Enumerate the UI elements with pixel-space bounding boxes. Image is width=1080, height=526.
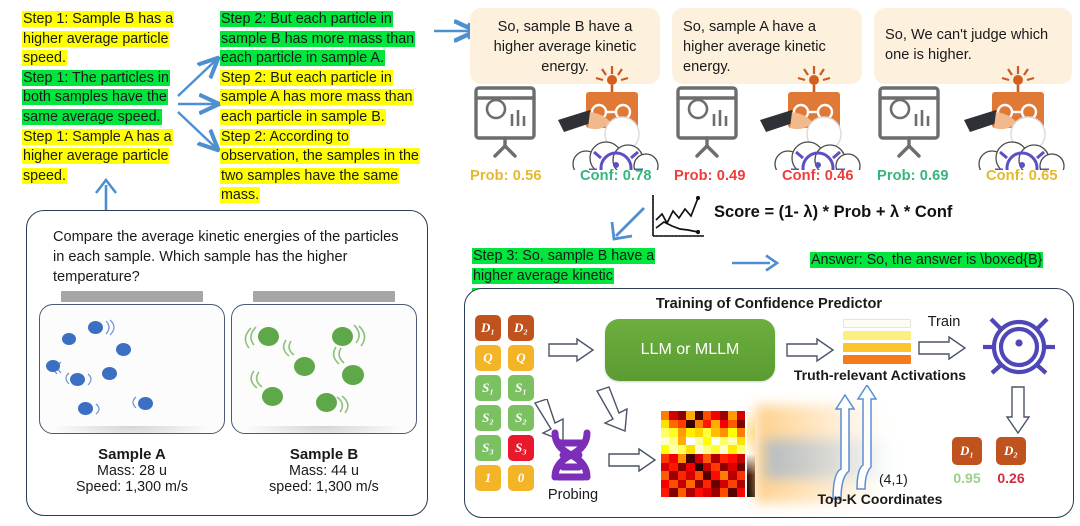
heatmap-cell bbox=[720, 411, 728, 420]
heatmap-cell bbox=[711, 411, 719, 420]
score-formula: Score = (1- λ) * Prob + λ * Conf bbox=[714, 203, 952, 222]
tile-s2-2: S₂ bbox=[508, 405, 534, 431]
heatmap-cell bbox=[686, 428, 694, 437]
heatmap-cell bbox=[711, 463, 719, 472]
step2-item-1: Step 2: But each particle in sample A ha… bbox=[220, 69, 420, 128]
heatmap-cell bbox=[737, 420, 745, 429]
presentation-board-icon-1 bbox=[674, 84, 740, 162]
heatmap-cell bbox=[678, 445, 686, 454]
motion-lines-b bbox=[232, 305, 416, 433]
arrow-question-to-step1 bbox=[88, 175, 124, 215]
heatmap-cell bbox=[703, 420, 711, 429]
llm-box: LLM or MLLM bbox=[605, 319, 775, 381]
tile-s3-2: S₃ bbox=[508, 435, 534, 461]
heatmap-cell bbox=[669, 411, 677, 420]
heatmap-cell bbox=[686, 411, 694, 420]
heatmap-cell bbox=[737, 480, 745, 489]
step2-text-0: Step 2: But each particle in sample B ha… bbox=[220, 11, 415, 66]
heatmap-cell bbox=[695, 428, 703, 437]
heatmap-cell bbox=[728, 420, 736, 429]
heatmap-cell bbox=[711, 428, 719, 437]
tile-d2: D₂ bbox=[508, 315, 534, 341]
heatmap-cell bbox=[678, 428, 686, 437]
heatmap-cell bbox=[695, 411, 703, 420]
heatmap-cell bbox=[661, 471, 669, 480]
heatmap-cell bbox=[728, 428, 736, 437]
heatmap-cell bbox=[737, 471, 745, 480]
heatmap-cell bbox=[661, 454, 669, 463]
sample-b-group: Sample B Mass: 44 u speed: 1,300 m/s bbox=[231, 291, 417, 495]
robot-presenter-icon-0 bbox=[550, 60, 662, 170]
heatmap-cell bbox=[711, 488, 719, 497]
heatmap-cell bbox=[737, 437, 745, 446]
heatmap-cell bbox=[703, 480, 711, 489]
heatmap-cell bbox=[669, 471, 677, 480]
heatmap-cell bbox=[695, 488, 703, 497]
heatmap-cell bbox=[737, 488, 745, 497]
output-d1: D₁ 0.95 bbox=[952, 437, 982, 486]
line-chart-icon bbox=[646, 192, 708, 242]
topk-coordinate: (4,1) bbox=[879, 471, 908, 487]
sample-b-lid bbox=[253, 291, 395, 302]
arrow-step3-to-answer bbox=[730, 250, 780, 276]
heatmap-cell bbox=[728, 445, 736, 454]
heatmap-cell bbox=[728, 411, 736, 420]
motion-lines-a bbox=[40, 305, 224, 433]
heatmap-cell bbox=[686, 480, 694, 489]
heatmap-cell bbox=[695, 480, 703, 489]
activations-label: Truth-relevant Activations bbox=[785, 367, 975, 383]
probing-label: Probing bbox=[533, 487, 613, 503]
jar-shadow bbox=[51, 426, 213, 434]
step2-item-0: Step 2: But each particle in sample B ha… bbox=[220, 10, 420, 69]
heatmap-cell bbox=[669, 445, 677, 454]
heatmap-cell bbox=[661, 463, 669, 472]
heatmap-cell bbox=[695, 463, 703, 472]
heatmap-cell bbox=[703, 488, 711, 497]
heatmap-cell bbox=[703, 428, 711, 437]
heatmap-cell bbox=[695, 454, 703, 463]
heatmap-cell bbox=[737, 411, 745, 420]
robot-presenter-icon-2 bbox=[956, 60, 1068, 170]
sample-b-name: Sample B bbox=[231, 446, 417, 463]
heatmap-cell bbox=[720, 420, 728, 429]
activation-bar-1 bbox=[843, 331, 911, 340]
heatmap-cell bbox=[737, 454, 745, 463]
step1-text-0: Step 1: Sample B has a higher average pa… bbox=[22, 11, 174, 66]
heatmap-cell bbox=[720, 437, 728, 446]
heatmap-cell bbox=[728, 488, 736, 497]
sample-b-jar bbox=[231, 304, 417, 434]
output-tile-d1: D₁ bbox=[952, 437, 982, 465]
tile-column-1: D₁ Q S₁ S₂ S₃ 1 bbox=[475, 315, 501, 491]
heatmap-cell bbox=[720, 488, 728, 497]
conf-label-1: Conf: 0.46 bbox=[782, 168, 854, 184]
heatmap-cell bbox=[711, 480, 719, 489]
answer-text: Answer: So, the answer is \boxed{B} bbox=[810, 252, 1043, 268]
heatmap-cell bbox=[720, 445, 728, 454]
heatmap-cell bbox=[669, 428, 677, 437]
question-text: Compare the average kinetic energies of … bbox=[53, 227, 401, 287]
heatmap-cell bbox=[686, 420, 694, 429]
heatmap-cell bbox=[703, 445, 711, 454]
output-tiles: D₁ 0.95 D₂ 0.26 bbox=[952, 437, 1026, 486]
presentation-board-icon-2 bbox=[876, 84, 942, 162]
heatmap-cell bbox=[711, 437, 719, 446]
heatmap-cell bbox=[661, 411, 669, 420]
heatmap-cell bbox=[686, 463, 694, 472]
step1-text-1: Step 1: The particles in both samples ha… bbox=[22, 70, 170, 125]
output-value-d1: 0.95 bbox=[952, 470, 982, 486]
heatmap-cell bbox=[720, 471, 728, 480]
heatmap-cell bbox=[728, 437, 736, 446]
heatmap-cell bbox=[669, 480, 677, 489]
heatmap-cell bbox=[720, 463, 728, 472]
sample-a-group: Sample A Mass: 28 u Speed: 1,300 m/s bbox=[39, 291, 225, 495]
arrow-predictor-to-output bbox=[1005, 385, 1031, 437]
answer-block: Answer: So, the answer is \boxed{B} bbox=[810, 251, 1078, 271]
heatmap-cell bbox=[737, 445, 745, 454]
prob-label-2: Prob: 0.69 bbox=[877, 168, 949, 184]
topk-arrows bbox=[817, 385, 887, 501]
heatmap-cell bbox=[678, 463, 686, 472]
heatmap-cell bbox=[661, 445, 669, 454]
topk-label: Top-K Coordinates bbox=[795, 491, 965, 507]
heatmap-cell bbox=[737, 428, 745, 437]
heatmap-cell bbox=[678, 454, 686, 463]
heatmap-cell bbox=[711, 454, 719, 463]
activation-heatmap bbox=[661, 411, 745, 497]
train-label: Train bbox=[917, 314, 971, 330]
tile-s1-2: S₁ bbox=[508, 375, 534, 401]
conf-label-0: Conf: 0.78 bbox=[580, 168, 652, 184]
heatmap-cell bbox=[695, 445, 703, 454]
prob-label-0: Prob: 0.56 bbox=[470, 168, 542, 184]
arrow-llm-to-activations bbox=[785, 337, 837, 363]
heatmap-cell bbox=[728, 480, 736, 489]
heatmap-grid bbox=[661, 411, 745, 497]
arrow-probing-to-heatmap bbox=[607, 447, 659, 473]
heatmap-cell bbox=[711, 445, 719, 454]
heatmap-cell bbox=[703, 411, 711, 420]
heatmap-cell bbox=[686, 445, 694, 454]
prob-label-1: Prob: 0.49 bbox=[674, 168, 746, 184]
truth-relevant-activations bbox=[843, 319, 911, 364]
heatmap-cell bbox=[669, 454, 677, 463]
heatmap-cell bbox=[695, 437, 703, 446]
probing-dna-icon bbox=[541, 427, 603, 489]
conf-label-2: Conf: 0.65 bbox=[986, 168, 1058, 184]
sample-a-mass: Mass: 28 u bbox=[39, 463, 225, 479]
heatmap-cell bbox=[728, 471, 736, 480]
heatmap-cell bbox=[661, 488, 669, 497]
sample-a-lid bbox=[61, 291, 203, 302]
arrow-to-step3 bbox=[604, 200, 654, 250]
arrow-train bbox=[917, 335, 969, 361]
tile-q: Q bbox=[475, 345, 501, 371]
heatmap-cell bbox=[728, 454, 736, 463]
activation-bar-0 bbox=[843, 319, 911, 328]
heatmap-cell bbox=[711, 420, 719, 429]
tile-s2: S₂ bbox=[475, 405, 501, 431]
heatmap-cell bbox=[678, 480, 686, 489]
heatmap-cell bbox=[669, 463, 677, 472]
heatmap-cell bbox=[669, 420, 677, 429]
heatmap-cell bbox=[703, 454, 711, 463]
heatmap-cell bbox=[728, 463, 736, 472]
heatmap-cell bbox=[711, 471, 719, 480]
jar-shadow bbox=[243, 426, 405, 434]
heatmap-cell bbox=[686, 488, 694, 497]
tile-d1: D₁ bbox=[475, 315, 501, 341]
heatmap-cell bbox=[661, 428, 669, 437]
heatmap-cell bbox=[695, 420, 703, 429]
heatmap-cell bbox=[703, 437, 711, 446]
heatmap-cell bbox=[661, 480, 669, 489]
heatmap-cell bbox=[678, 420, 686, 429]
heatmap-cell bbox=[661, 437, 669, 446]
heatmap-cell bbox=[686, 437, 694, 446]
confidence-predictor-icon bbox=[977, 307, 1061, 381]
question-panel: Compare the average kinetic energies of … bbox=[26, 210, 428, 516]
heatmap-cell bbox=[669, 437, 677, 446]
step2-text-2: Step 2: According to observation, the sa… bbox=[220, 129, 420, 204]
heatmap-cell bbox=[720, 428, 728, 437]
step2-item-2: Step 2: According to observation, the sa… bbox=[220, 128, 420, 206]
activation-bar-2 bbox=[843, 343, 911, 352]
heatmap-cell bbox=[678, 411, 686, 420]
step2-column: Step 2: But each particle in sample B ha… bbox=[220, 10, 420, 206]
robot-presenter-icon-1 bbox=[752, 60, 864, 170]
heatmap-cell bbox=[695, 471, 703, 480]
heatmap-cell bbox=[661, 420, 669, 429]
heatmap-cell bbox=[720, 454, 728, 463]
heatmap-cell bbox=[703, 471, 711, 480]
heatmap-cell bbox=[686, 454, 694, 463]
tile-label-0: 0 bbox=[508, 465, 534, 491]
arrow-tiles-to-llm bbox=[547, 337, 597, 363]
heatmap-cell bbox=[669, 488, 677, 497]
output-d2: D₂ 0.26 bbox=[996, 437, 1026, 486]
heatmap-column-strip bbox=[747, 411, 755, 497]
output-value-d2: 0.26 bbox=[996, 470, 1026, 486]
heatmap-cell bbox=[686, 471, 694, 480]
tile-label-1: 1 bbox=[475, 465, 501, 491]
activation-bar-3 bbox=[843, 355, 911, 364]
tile-s1: S₁ bbox=[475, 375, 501, 401]
sample-a-speed: Speed: 1,300 m/s bbox=[39, 479, 225, 495]
tile-q-2: Q bbox=[508, 345, 534, 371]
heatmap-cell bbox=[678, 488, 686, 497]
presentation-board-icon-0 bbox=[472, 84, 538, 162]
tile-column-2: D₂ Q S₁ S₂ S₃ 0 bbox=[508, 315, 534, 491]
tile-s3: S₃ bbox=[475, 435, 501, 461]
heatmap-cell bbox=[703, 463, 711, 472]
sample-a-name: Sample A bbox=[39, 446, 225, 463]
heatmap-cell bbox=[678, 437, 686, 446]
step2-text-1: Step 2: But each particle in sample A ha… bbox=[220, 70, 414, 125]
output-tile-d2: D₂ bbox=[996, 437, 1026, 465]
sample-b-mass: Mass: 44 u bbox=[231, 463, 417, 479]
heatmap-cell bbox=[678, 471, 686, 480]
heatmap-cell bbox=[737, 463, 745, 472]
sample-b-speed: speed: 1,300 m/s bbox=[231, 479, 417, 495]
training-panel: Training of Confidence Predictor D₁ Q S₁… bbox=[464, 288, 1074, 518]
heatmap-cell bbox=[720, 480, 728, 489]
sample-a-jar bbox=[39, 304, 225, 434]
